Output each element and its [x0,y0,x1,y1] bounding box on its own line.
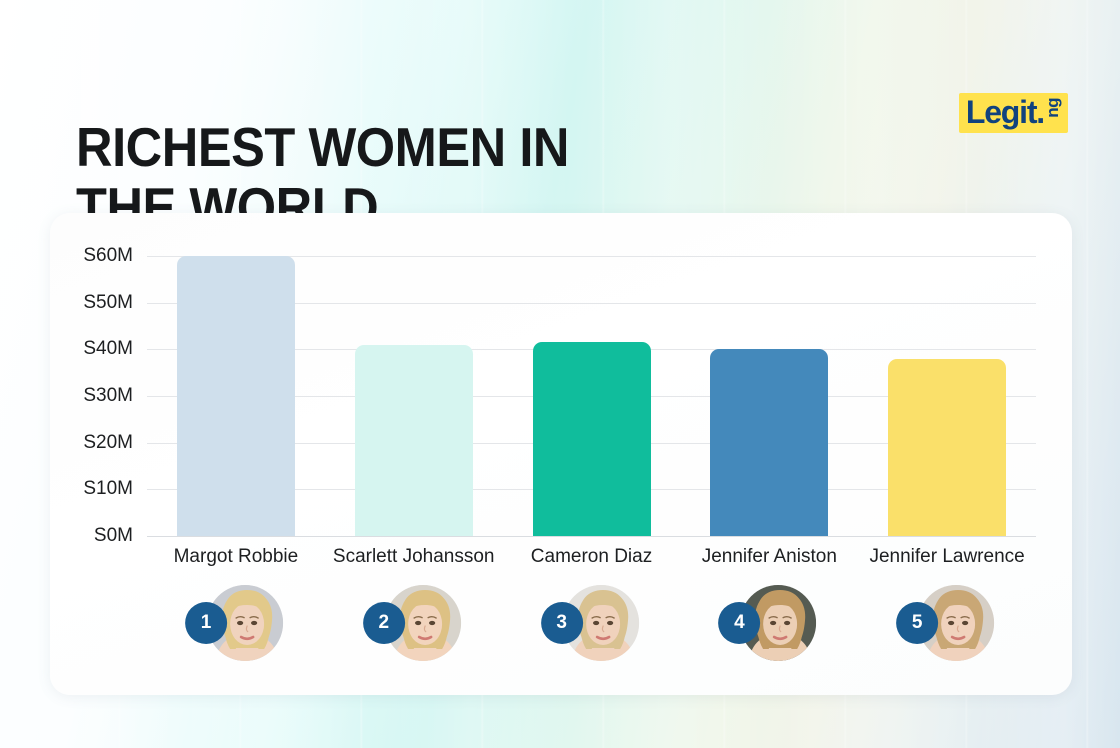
y-axis-tick-label: S20M [83,432,133,454]
bar-series [147,256,1036,536]
list-item[interactable]: 1 [177,581,295,671]
rank-badge: 3 [541,602,583,644]
gridline [147,536,1036,537]
legit-ng-logo[interactable]: Legit . ng [959,93,1068,133]
list-item[interactable]: 3 [533,581,651,671]
logo-tld: ng [1045,98,1061,118]
x-axis-label: Cameron Diaz [497,546,687,568]
y-axis-tick-label: S50M [83,292,133,314]
y-axis-tick-label: S30M [83,385,133,407]
y-axis-tick-label: S10M [83,478,133,500]
x-axis-label: Jennifer Lawrence [852,546,1042,568]
logo-word: Legit [966,96,1036,128]
rank-badge: 1 [185,602,227,644]
list-item[interactable]: 4 [710,581,828,671]
chart-card: S60MS50MS40MS30MS20MS10MS0M Margot Robbi… [50,213,1072,695]
rank-badge: 4 [718,602,760,644]
rank-badge: 5 [896,602,938,644]
x-axis-label: Jennifer Aniston [674,546,864,568]
y-axis-tick-label: S60M [83,245,133,267]
bar[interactable] [355,345,473,536]
bar-chart: S60MS50MS40MS30MS20MS10MS0M Margot Robbi… [50,213,1072,695]
list-item[interactable]: 5 [888,581,1006,671]
bar[interactable] [710,349,828,536]
bar[interactable] [888,359,1006,536]
bar[interactable] [177,256,295,536]
plot-area: S60MS50MS40MS30MS20MS10MS0M Margot Robbi… [147,256,1036,536]
infographic-page: RICHEST WOMEN IN THE WORLD Legit . ng S6… [0,0,1120,748]
bar[interactable] [533,342,651,536]
x-axis-label: Margot Robbie [141,546,331,568]
x-axis-label: Scarlett Johansson [319,546,509,568]
ranking-avatars: 1 2 3 [147,581,1036,671]
y-axis-tick-label: S0M [94,525,133,547]
rank-badge: 2 [363,602,405,644]
y-axis-tick-label: S40M [83,338,133,360]
list-item[interactable]: 2 [355,581,473,671]
